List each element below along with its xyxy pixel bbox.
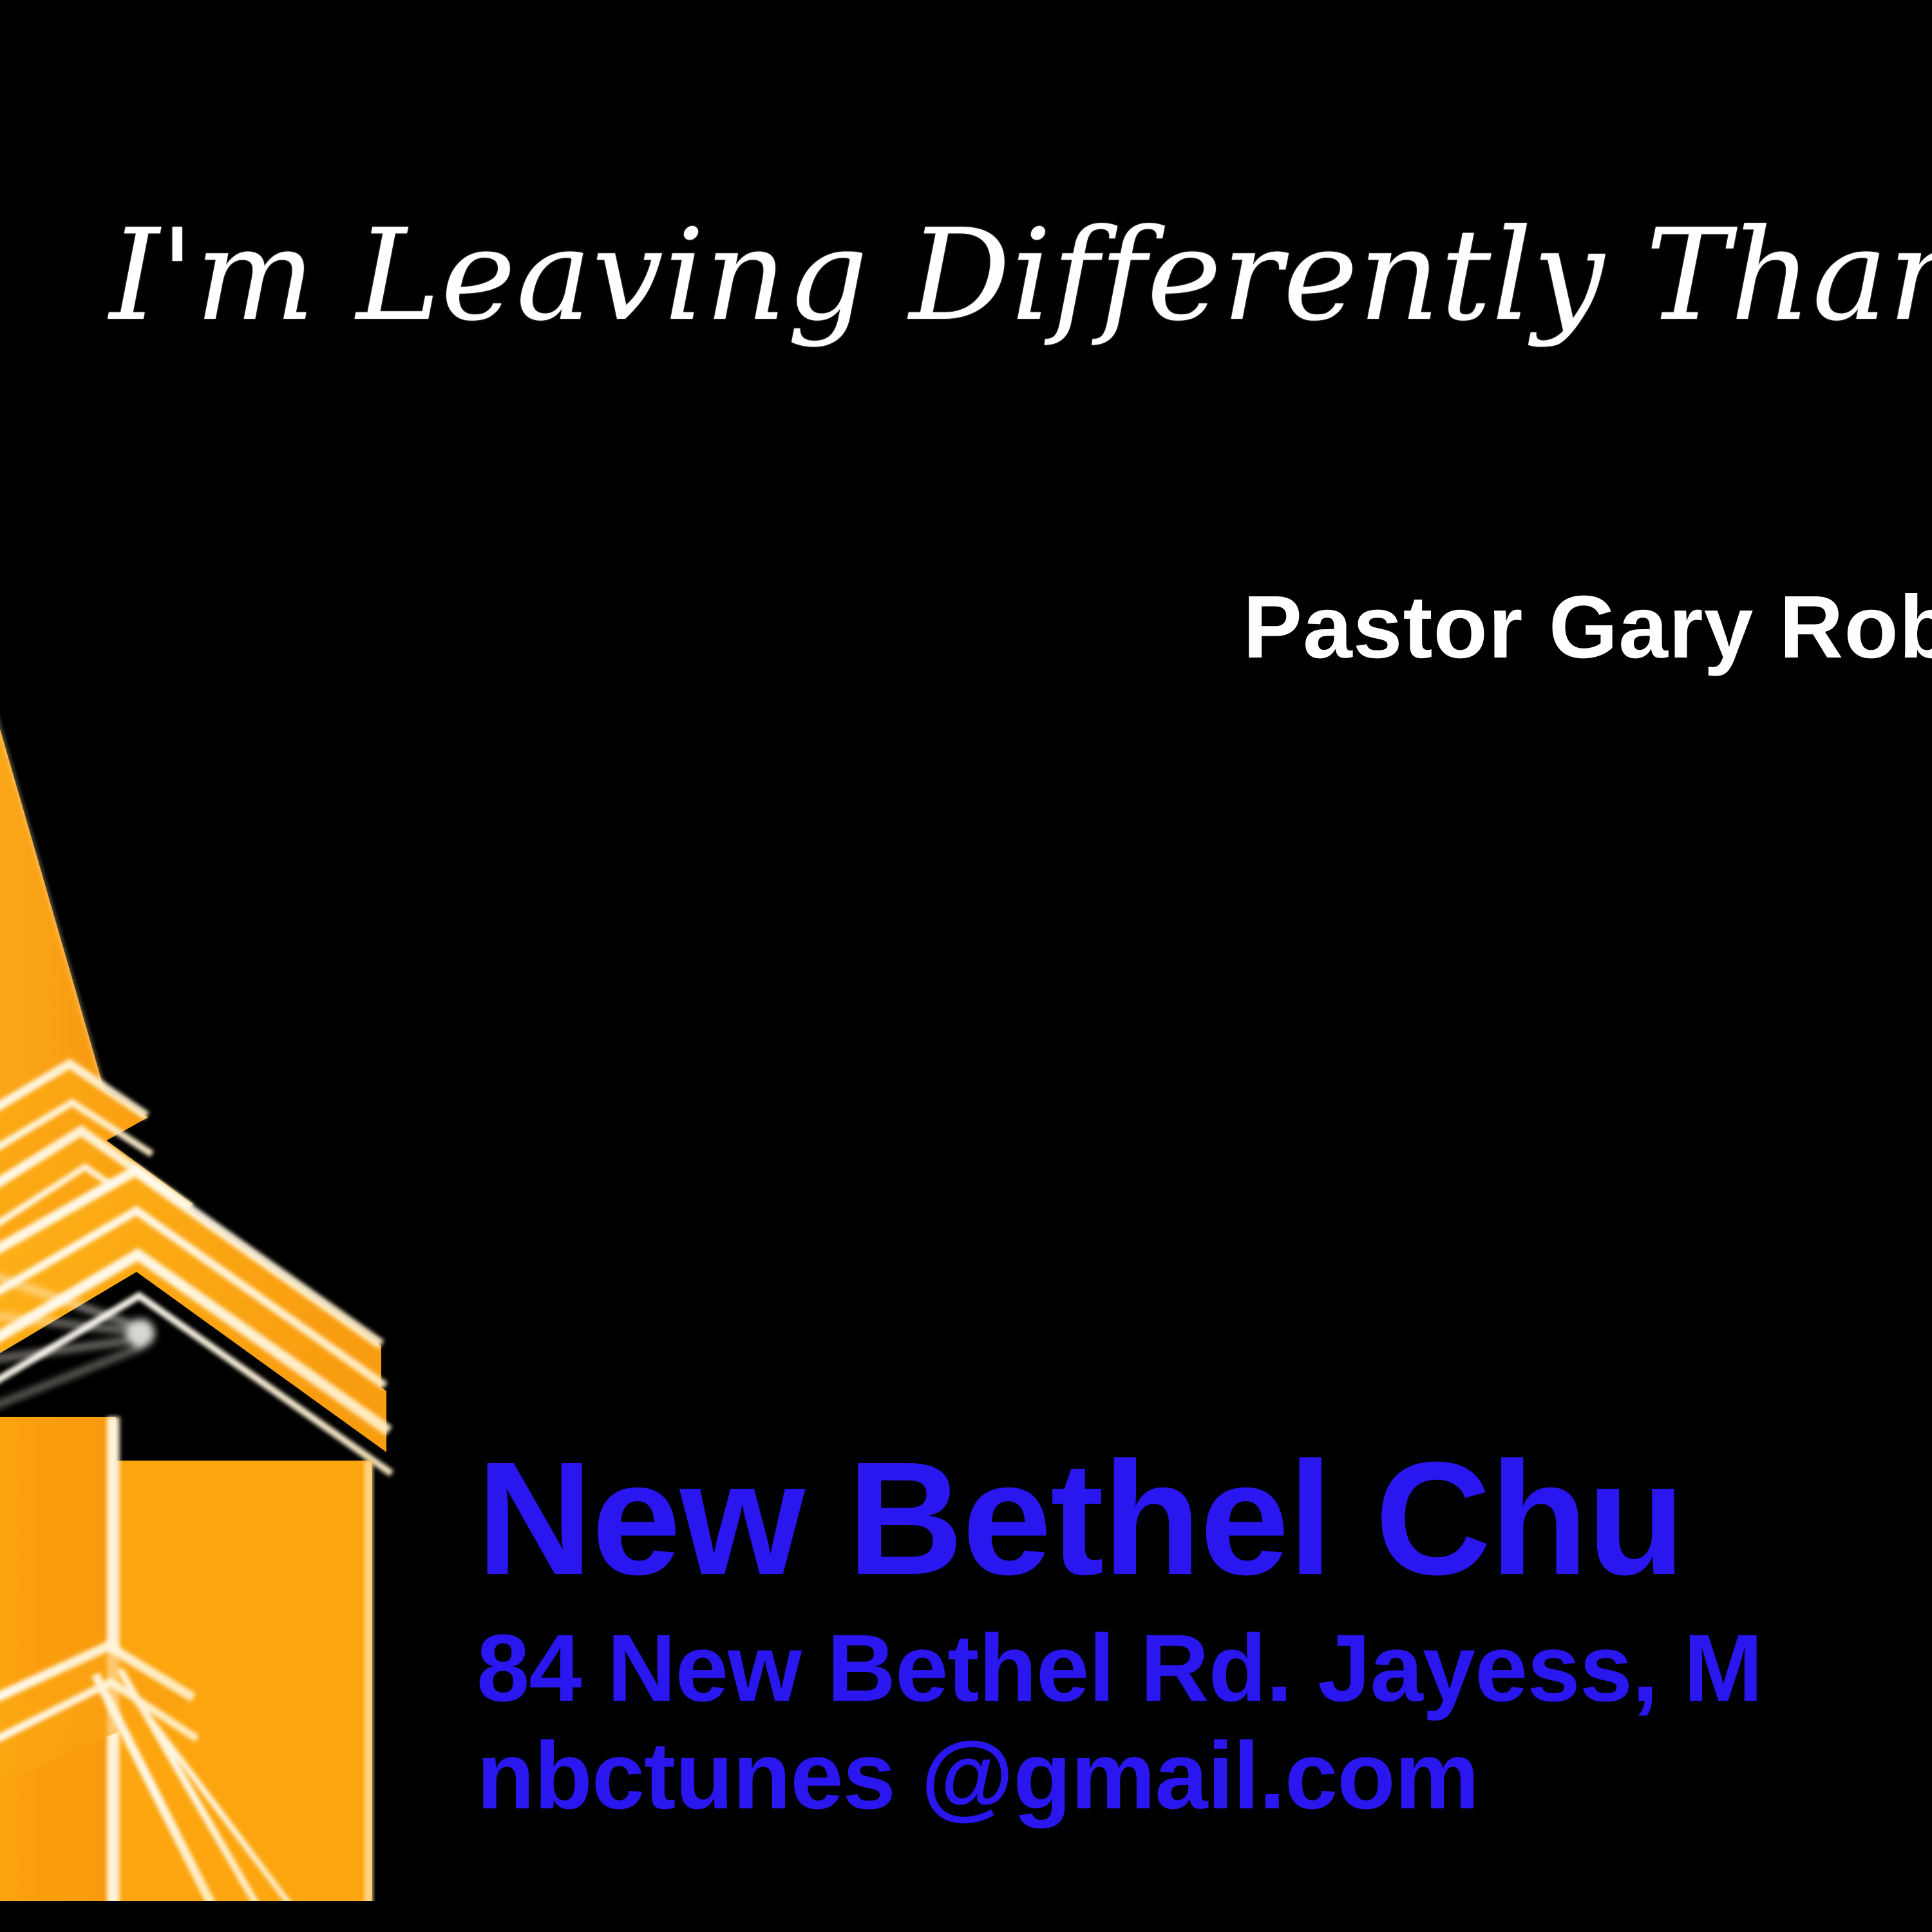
church-walls (0, 1417, 373, 1906)
church-email: nbctunes @gmail.com (477, 1726, 1932, 1826)
sermon-title: I'm Leaving Differently Than I (109, 213, 1932, 339)
sermon-title-slide: I'm Leaving Differently Than I Pastor Ga… (0, 0, 1932, 1932)
church-info-block: New Bethel Chu 84 New Bethel Rd. Jayess,… (477, 1436, 1932, 1826)
steeple-spire (0, 261, 109, 1133)
church-name: New Bethel Chu (477, 1436, 1932, 1600)
speaker-name: Pastor Gary Rob (1243, 583, 1932, 672)
church-address: 84 New Bethel Rd. Jayess, M (477, 1618, 1932, 1718)
